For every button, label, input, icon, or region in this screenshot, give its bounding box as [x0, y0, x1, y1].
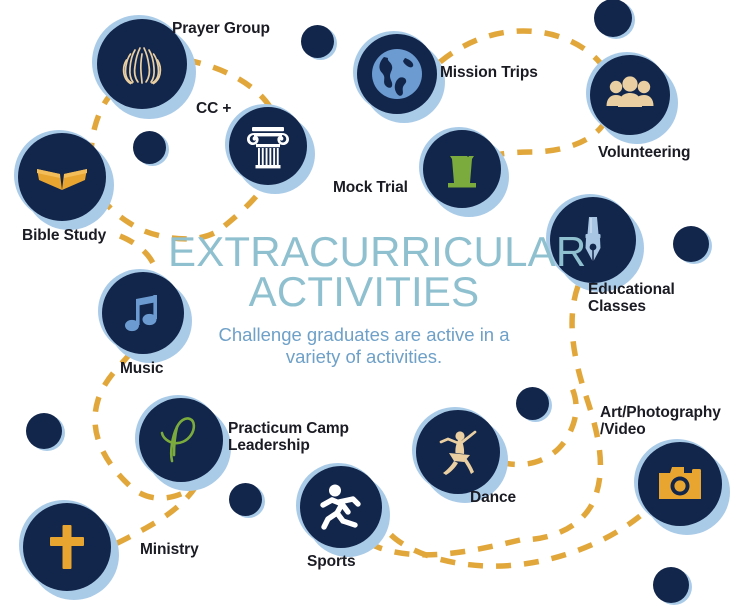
label-mission-trips: Mission Trips [440, 64, 538, 81]
page-title-line2: ACTIVITIES [168, 272, 560, 312]
ballerina-icon [430, 424, 486, 480]
node-cc-plus[interactable] [225, 104, 315, 194]
node-sports[interactable] [296, 463, 390, 557]
label-dance: Dance [470, 489, 516, 506]
label-ministry: Ministry [140, 541, 199, 558]
page-title-line1: EXTRACURRICULAR [168, 232, 560, 272]
node-disc [357, 34, 437, 114]
label-practicum-camp: Practicum Camp Leadership [228, 420, 349, 455]
node-art-photography[interactable] [634, 439, 730, 535]
node-ministry[interactable] [19, 500, 119, 600]
node-disc [638, 442, 722, 526]
cross-icon [43, 520, 91, 574]
open-book-icon [33, 148, 91, 206]
title-block: EXTRACURRICULAR ACTIVITIES Challenge gra… [168, 232, 560, 369]
praying-hands-icon [114, 36, 170, 92]
node-mock-trial[interactable] [419, 127, 509, 217]
label-sports: Sports [307, 553, 356, 570]
node-disc [18, 133, 106, 221]
node-disc [229, 107, 307, 185]
label-mock-trial: Mock Trial [333, 179, 408, 196]
label-bible-study: Bible Study [22, 227, 106, 244]
infographic-canvas: Prayer Group [0, 0, 736, 607]
node-disc [23, 503, 111, 591]
globe-icon [367, 44, 427, 104]
script-p-icon [150, 409, 212, 471]
node-disc [139, 398, 223, 482]
camera-icon [654, 461, 706, 507]
label-music: Music [120, 360, 163, 377]
music-note-icon [119, 289, 167, 337]
node-volunteering[interactable] [586, 52, 678, 144]
node-disc [416, 410, 500, 494]
label-educational-classes: Educational Classes [588, 281, 736, 316]
node-bible-study[interactable] [14, 130, 114, 230]
node-disc [590, 55, 670, 135]
label-prayer-group: Prayer Group [172, 20, 270, 37]
node-disc [423, 130, 501, 208]
page-subtitle: Challenge graduates are active in a vari… [168, 324, 560, 369]
node-disc [300, 466, 382, 548]
label-art-photography: Art/Photography /Video [600, 404, 721, 439]
label-volunteering: Volunteering [598, 144, 690, 161]
ionic-column-icon [242, 120, 294, 172]
label-cc-plus: CC + [196, 100, 231, 117]
node-practicum-camp[interactable] [135, 395, 231, 491]
runner-icon [315, 481, 367, 533]
podium-icon [436, 143, 488, 195]
node-mission-trips[interactable] [353, 31, 445, 123]
people-group-icon [603, 68, 657, 122]
